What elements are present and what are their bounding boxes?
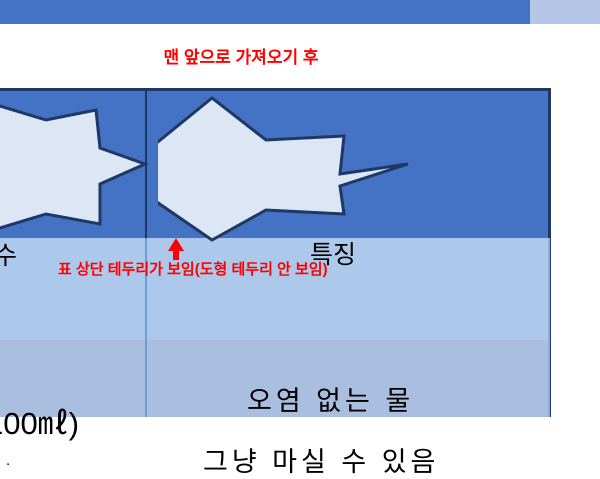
ribbon-band-light — [530, 0, 600, 24]
top-ribbon-strip — [0, 0, 600, 24]
cell-right-row2: 그냥 마실 수 있음 — [203, 440, 439, 479]
page-title: 맨 앞으로 가져오기 후 — [0, 43, 482, 68]
explosion-star-right[interactable] — [158, 90, 558, 242]
explosion-star-left[interactable] — [0, 96, 180, 236]
cell-right-row1: 오염 없는 물 — [247, 379, 414, 418]
star-left-label: 수 — [0, 236, 17, 272]
ribbon-band — [0, 0, 530, 24]
header-column-divider — [145, 91, 147, 238]
data-table: 수 특징 100㎖) . 오염 없는 물 그냥 마실 수 있음 — [0, 88, 551, 417]
table-top-border — [0, 88, 551, 91]
table-row — [0, 238, 548, 340]
cell-left-row1: 100㎖) — [0, 398, 79, 443]
annotation-note: 표 상단 테두리가 보임(도형 테두리 안 보임) — [58, 258, 328, 279]
table-right-border-lower — [548, 238, 550, 417]
cell-left-row1-sub: . — [6, 452, 10, 469]
